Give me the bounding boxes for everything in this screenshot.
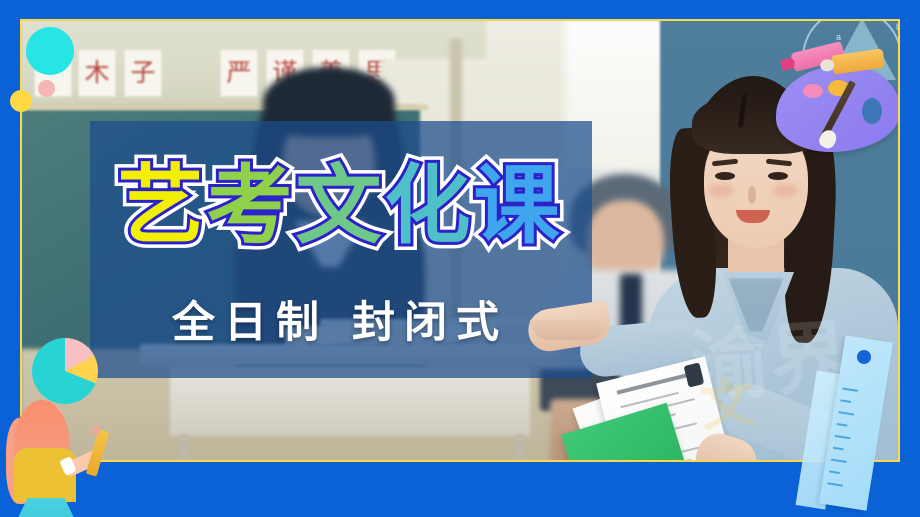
ruler-tick	[836, 423, 847, 427]
border-band-right	[900, 0, 920, 517]
pink-circle-icon	[38, 80, 55, 97]
ruler-tick	[827, 482, 843, 486]
yellow-circle-icon	[10, 90, 32, 112]
teacher-nose	[748, 186, 756, 204]
border-band-top	[0, 0, 920, 19]
headline-char: 化	[385, 163, 474, 249]
teacher-blush	[708, 184, 734, 197]
banner-root: 木 子 严 谨 善 思	[0, 0, 920, 517]
cyan-circle-icon	[26, 27, 74, 75]
ruler-hole	[857, 350, 871, 364]
ruler-tick	[840, 399, 851, 403]
ruler-tick	[829, 470, 840, 474]
teacher-eye	[715, 172, 735, 180]
headline-char: 艺	[118, 163, 207, 249]
paint-dot-pink	[803, 84, 823, 98]
ruler-tick	[833, 447, 844, 451]
student-illustration	[0, 330, 130, 517]
palette-thumb-hole	[862, 98, 882, 124]
ruler-tick	[831, 459, 847, 463]
page-title: 艺 考 文 化 课 艺 考 文 化 课 艺 考 文 化 课	[100, 150, 580, 262]
desk-leg	[180, 434, 189, 462]
headline-char: 课	[474, 163, 563, 249]
border-band-bottom	[0, 462, 920, 517]
teacher-fingers	[530, 320, 608, 340]
art-palette-decoration: a b c	[770, 0, 920, 170]
wall-poster: 子	[124, 49, 162, 97]
headline-char: 考	[207, 163, 296, 249]
ruler-tick	[842, 387, 858, 391]
ruler-tick	[835, 435, 851, 439]
page-subtitle: 全日制 封闭式	[100, 288, 580, 350]
triangle-label-a: a	[836, 32, 841, 42]
teacher-blush	[772, 184, 798, 197]
wall-poster: 木	[78, 49, 116, 97]
headline-char: 文	[296, 163, 385, 249]
desk-leg	[515, 434, 524, 462]
ruler-tick	[838, 411, 854, 415]
headline-fill-layer: 艺 考 文 化 课	[100, 150, 580, 262]
pie-chart-icon	[32, 338, 98, 404]
teacher-eye	[768, 172, 788, 180]
